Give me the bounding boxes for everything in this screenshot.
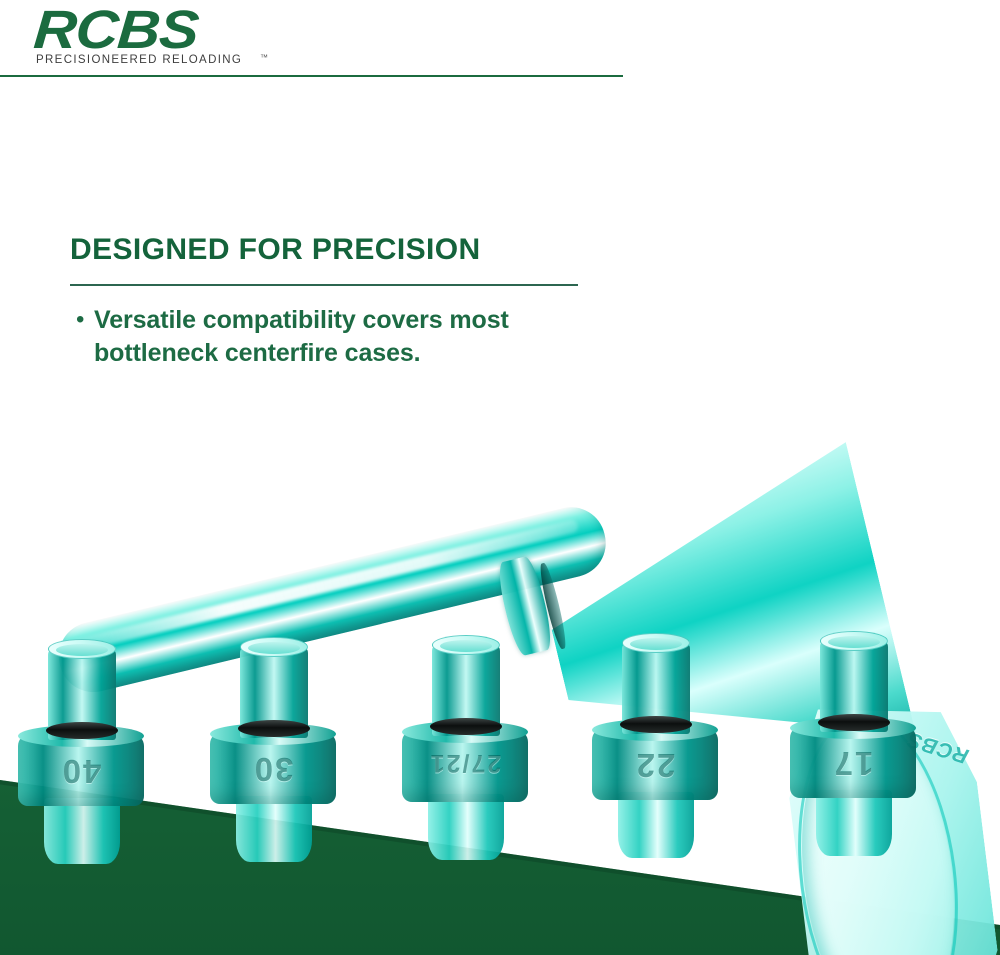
adapter-o-ring <box>818 714 890 731</box>
adapter-27-21: 27/21 <box>402 644 528 856</box>
product-photo: RCBS RCBS 40 30 27/ <box>0 330 1000 955</box>
adapter-17: 17 <box>790 640 916 852</box>
product-infographic: RCBS PRECISIONEERED RELOADING ™ DESIGNED… <box>0 0 1000 955</box>
copy-divider <box>70 284 578 286</box>
adapter-o-ring <box>46 722 118 739</box>
adapter-neck-bore <box>440 640 492 652</box>
brand-logo: RCBS PRECISIONEERED RELOADING ™ <box>36 4 266 66</box>
header-divider <box>0 75 623 77</box>
adapter-30: 30 <box>210 646 336 858</box>
adapter-neck-bore <box>248 642 300 654</box>
adapter-o-ring <box>238 720 310 737</box>
adapter-o-ring <box>430 718 502 735</box>
brand-wordmark: RCBS <box>32 4 289 56</box>
adapter-caliber-label: 30 <box>210 750 336 788</box>
adapter-neck-bore <box>630 638 682 650</box>
adapter-o-ring <box>620 716 692 733</box>
adapter-caliber-label: 17 <box>790 744 916 782</box>
adapter-40: 40 <box>18 648 144 860</box>
brand-tagline: PRECISIONEERED RELOADING <box>36 54 242 66</box>
adapter-base <box>44 798 120 864</box>
adapter-neck-bore <box>828 636 880 648</box>
adapter-base <box>236 796 312 862</box>
adapter-22: 22 <box>592 642 718 854</box>
page-header: RCBS PRECISIONEERED RELOADING ™ <box>0 0 1000 90</box>
page-title: DESIGNED FOR PRECISION <box>70 232 630 268</box>
trademark-symbol: ™ <box>260 53 268 62</box>
adapter-base <box>618 792 694 858</box>
adapter-caliber-label: 22 <box>592 746 718 784</box>
adapter-neck-bore <box>56 644 108 656</box>
adapter-caliber-label: 27/21 <box>402 748 528 777</box>
adapter-base <box>428 794 504 860</box>
adapter-base <box>816 790 892 856</box>
adapter-caliber-label: 40 <box>18 752 144 790</box>
